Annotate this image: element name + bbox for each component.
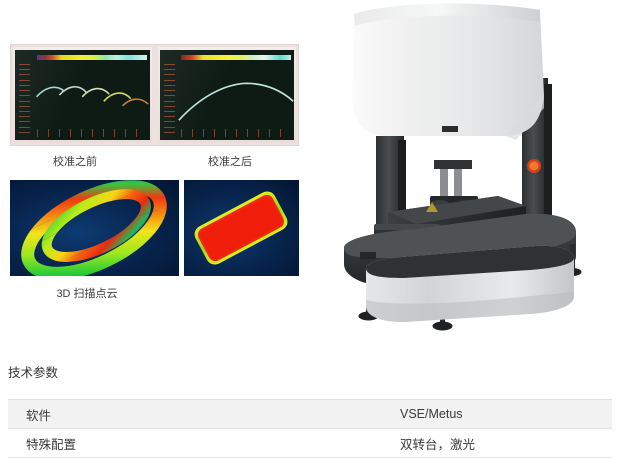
caption-pointcloud: 3D 扫描点云 [22, 285, 152, 301]
measurement-screen-before [15, 50, 150, 140]
screen-frame-before [13, 47, 152, 143]
screen-frame-after [158, 47, 297, 143]
profile-curve-after [160, 50, 295, 140]
calibration-screens-row [10, 44, 299, 146]
ring-shape-icon [10, 180, 179, 276]
caption-calibration-before: 校准之前 [30, 153, 120, 169]
table-row: 软件 VSE/Metus [8, 400, 612, 429]
tech-specs-title: 技术参数 [0, 362, 622, 381]
tech-specs-section: 技术参数 软件 VSE/Metus 特殊配置 双转台，激光 [0, 362, 622, 458]
pointcloud-row [10, 180, 299, 276]
profile-curves-before [15, 50, 150, 140]
machine-photo: MARK SCAN HEXAGON [330, 0, 622, 350]
spec-value-special-config: 双转台，激光 [396, 429, 612, 458]
pointcloud-ring-render [10, 180, 179, 276]
figures-panel: 校准之前 校准之后 [0, 0, 330, 318]
spec-value-software: VSE/Metus [396, 400, 612, 429]
pointcloud-plate-render [184, 180, 299, 276]
caption-calibration-after: 校准之后 [185, 153, 275, 169]
tech-specs-table: 软件 VSE/Metus 特殊配置 双转台，激光 [8, 399, 612, 458]
spec-key-special-config: 特殊配置 [8, 429, 396, 458]
table-row: 特殊配置 双转台，激光 [8, 429, 612, 458]
measurement-screen-after [160, 50, 295, 140]
plate-shape-icon [184, 180, 299, 276]
cmm-machine-illustration [330, 0, 622, 350]
spec-key-software: 软件 [8, 400, 396, 429]
